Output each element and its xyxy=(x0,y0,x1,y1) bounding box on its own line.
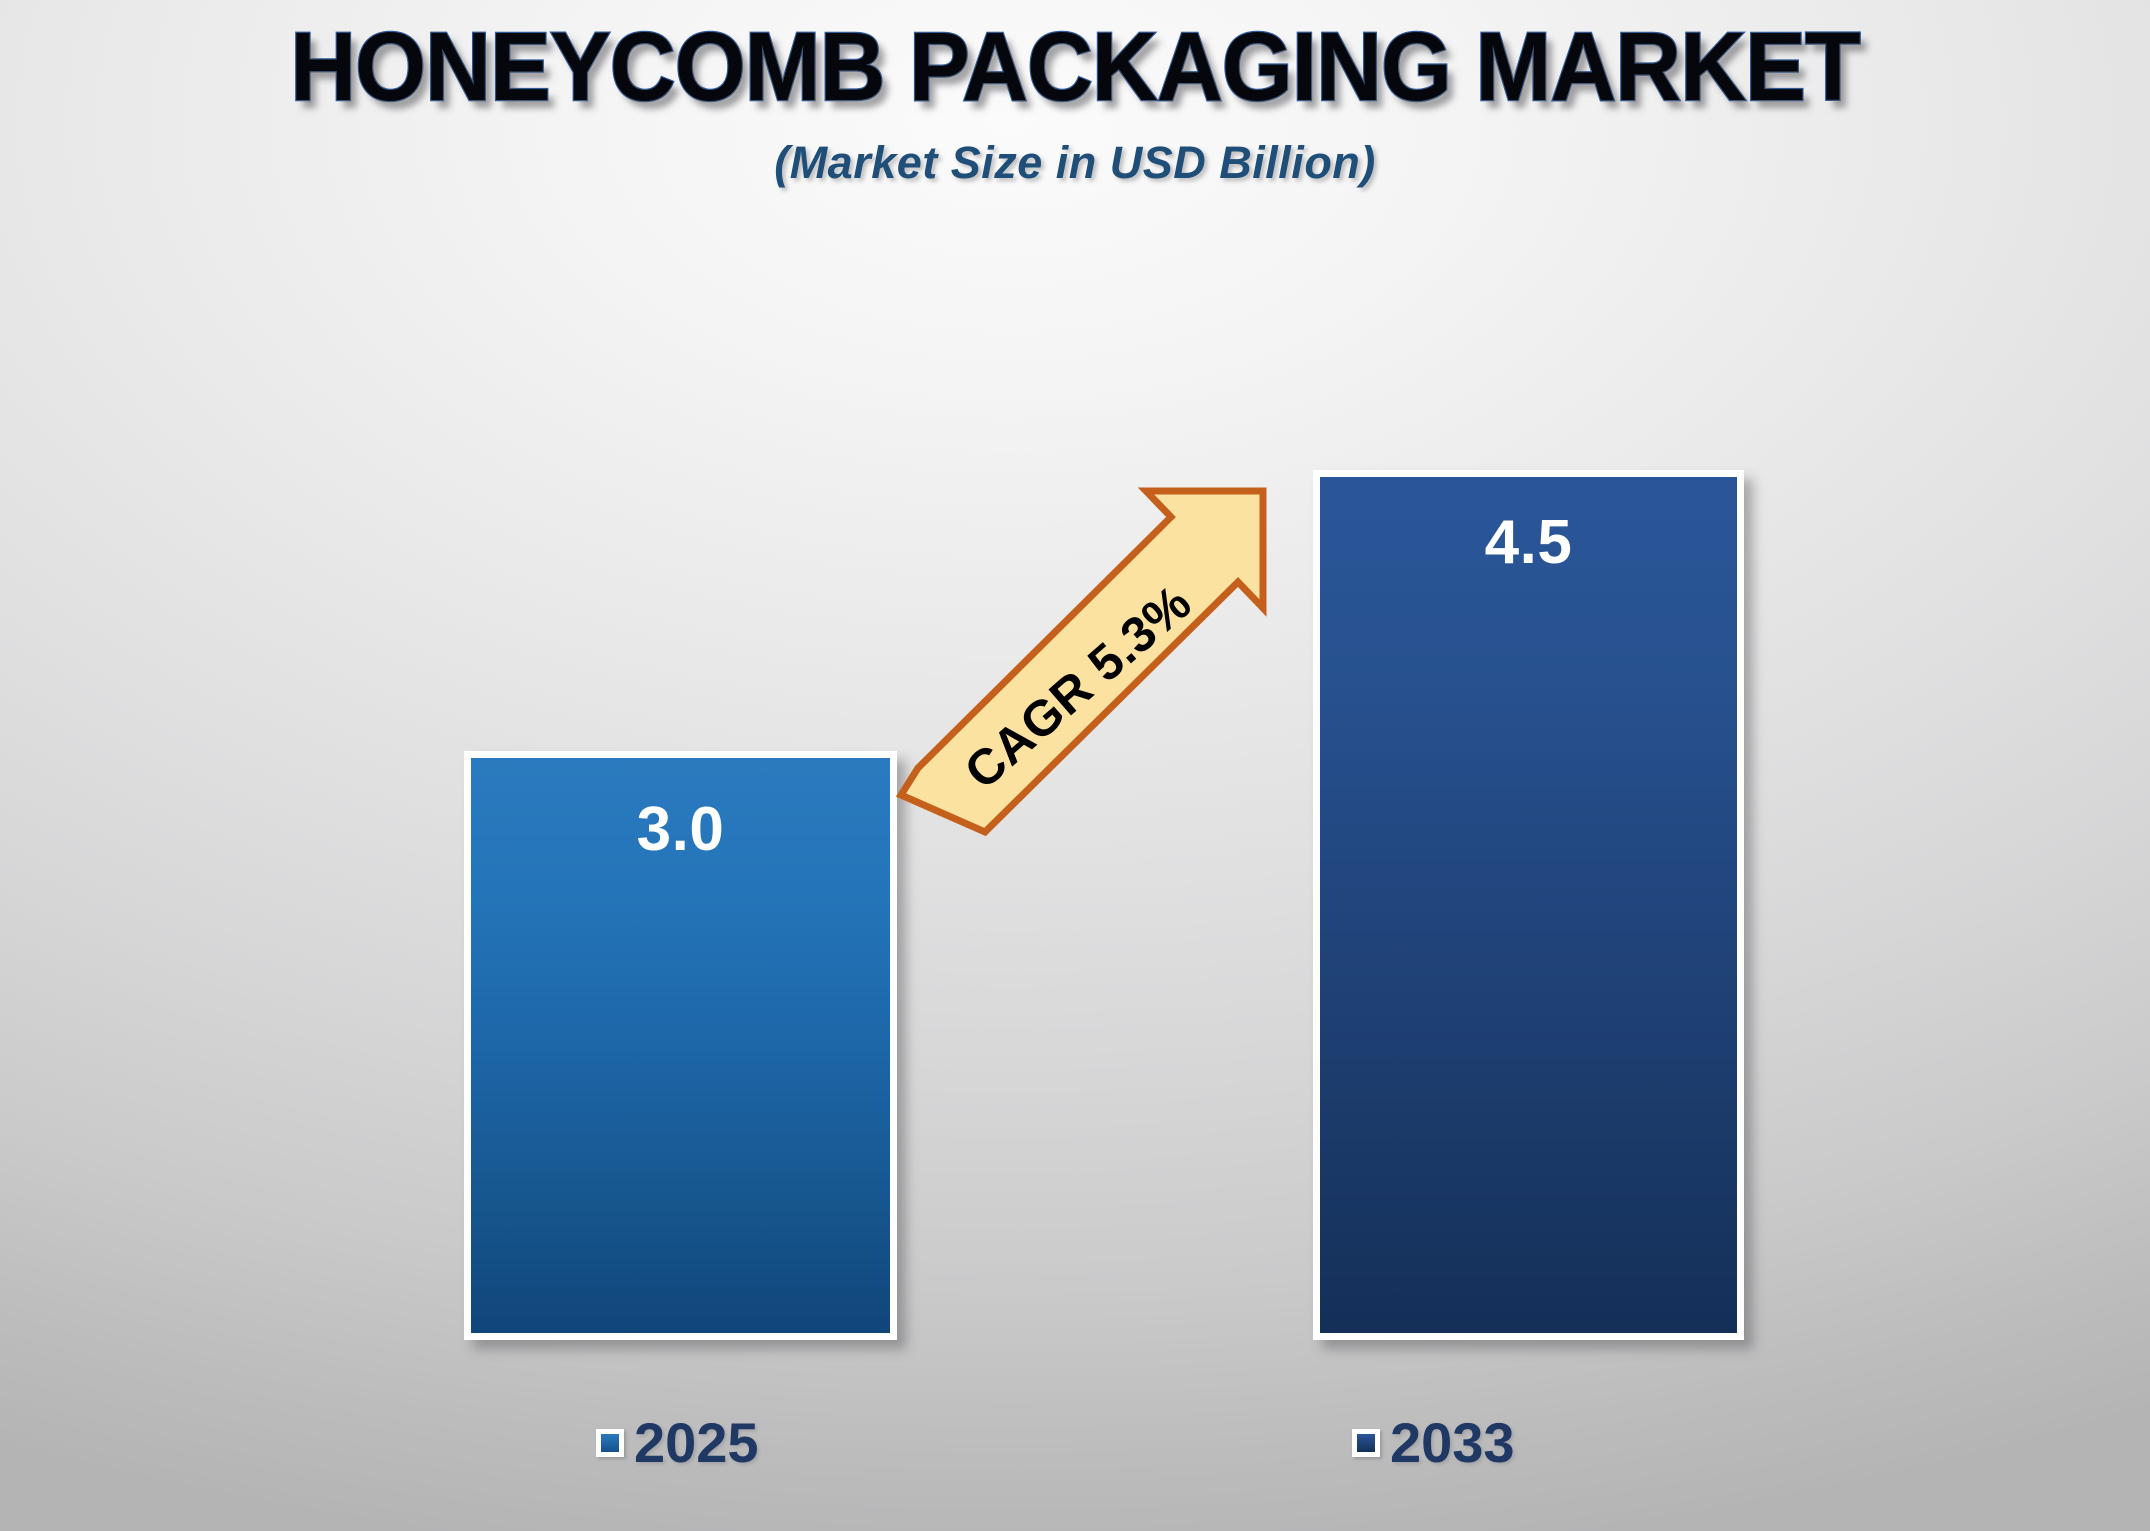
chart-header: HONEYCOMB PACKAGING MARKET (Market Size … xyxy=(0,18,2150,189)
legend-label-2033: 2033 xyxy=(1390,1415,1515,1471)
legend-swatch-icon-2025 xyxy=(596,1429,624,1457)
legend-item-2033[interactable]: 2033 xyxy=(1352,1415,1515,1471)
cagr-up-right-arrow-icon xyxy=(880,480,1300,840)
bar-2033: 4.5 xyxy=(1313,470,1744,1340)
chart-title: HONEYCOMB PACKAGING MARKET xyxy=(65,18,2086,115)
chart-subtitle: (Market Size in USD Billion) xyxy=(0,137,2150,189)
chart-canvas: HONEYCOMB PACKAGING MARKET (Market Size … xyxy=(0,0,2150,1531)
legend-swatch-icon-2033 xyxy=(1352,1429,1380,1457)
bar-value-2033: 4.5 xyxy=(1320,507,1737,578)
cagr-label: CAGR 5.3% xyxy=(954,573,1203,800)
cagr-label-wrap: CAGR 5.3% xyxy=(900,560,1260,800)
bar-2025: 3.0 xyxy=(464,751,897,1340)
legend-label-2025: 2025 xyxy=(634,1415,759,1471)
legend-item-2025[interactable]: 2025 xyxy=(596,1415,759,1471)
bar-value-2025: 3.0 xyxy=(471,794,890,865)
